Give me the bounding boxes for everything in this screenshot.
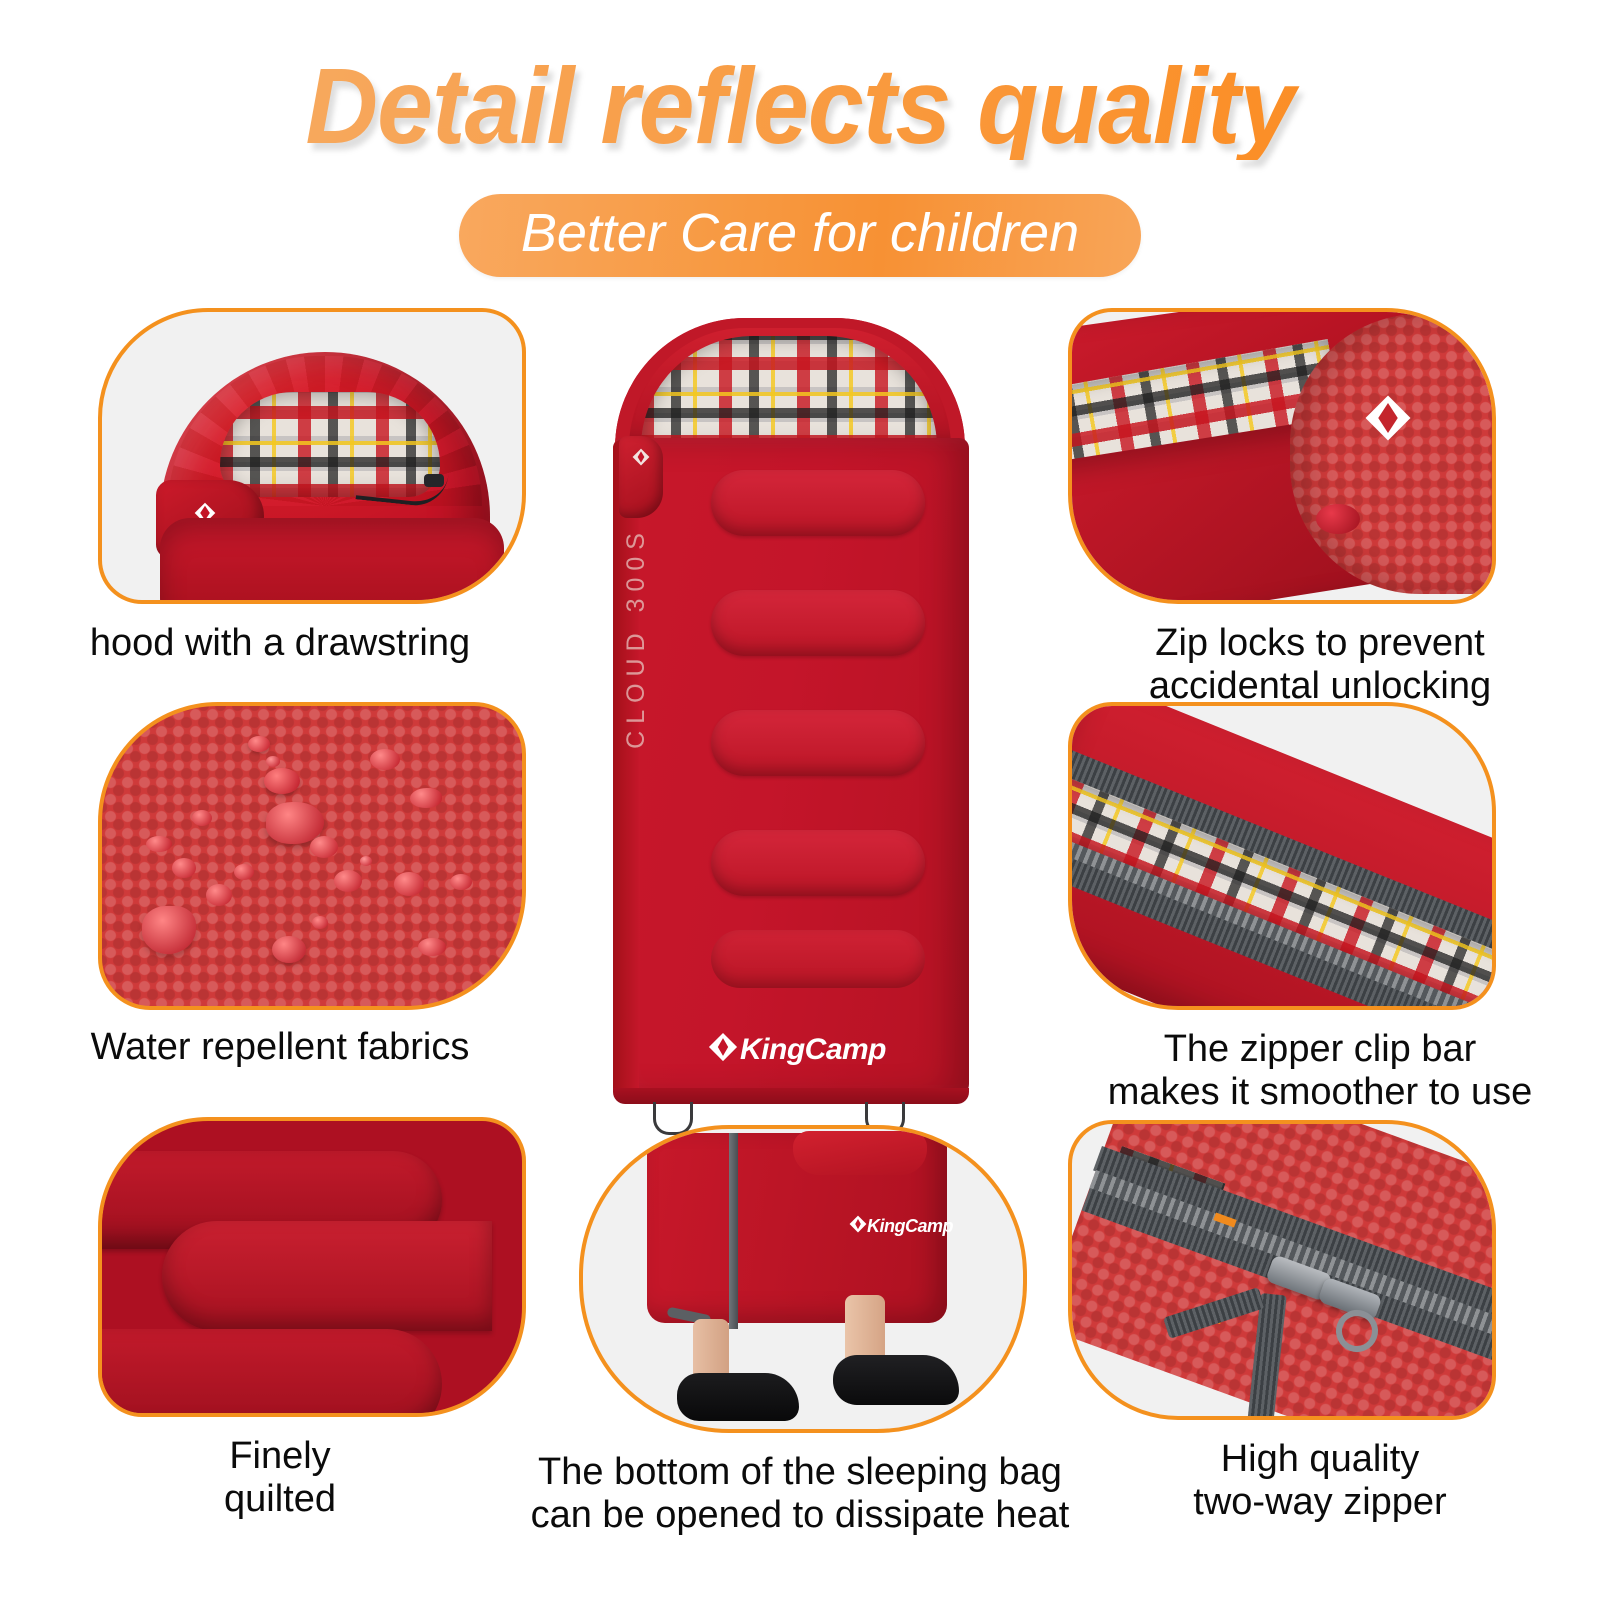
feature-photo-two-way-zipper [1068,1120,1496,1420]
feature-photo-hood-drawstring [98,308,526,604]
sock-right [833,1355,959,1405]
kingcamp-diamond-icon [1364,394,1412,447]
feature-card-finely-quilted: Finely quilted [0,1107,560,1507]
bottom-brand-lockup: KingCamp [849,1215,953,1238]
hood-lower-body [160,518,504,604]
hero-baffle [711,470,925,536]
left-feature-column: hood with a drawstring Water repelle [0,300,560,1507]
header: Detail reflects quality Better Care for … [0,0,1600,290]
page-title: Detail reflects quality [56,52,1544,160]
right-feature-column: Zip locks to prevent accidental unlockin… [1040,300,1600,1510]
sock-left [677,1373,799,1421]
zip-lock-detail [1316,504,1360,534]
feature-caption-zipper-clip-bar: The zipper clip bar makes it smoother to… [1040,1028,1600,1113]
feature-card-bottom-opens: KingCamp The bottom of the sleeping bag … [575,1125,1025,1545]
water-droplet [334,870,362,892]
water-droplet [450,874,472,890]
water-droplet [272,936,306,963]
subtitle-badge: Better Care for children [459,194,1141,277]
feature-card-zip-locks: Zip locks to prevent accidental unlockin… [1040,300,1600,692]
water-droplet [266,756,280,767]
water-droplet [234,864,254,880]
water-droplet [418,938,446,956]
water-droplet [206,884,232,906]
hero-product-image: CLOUD 300S KingCamp [575,318,1025,1128]
water-droplet [248,736,270,752]
quilt-baffle [98,1329,442,1417]
hero-baffle [711,710,925,776]
water-droplet [310,836,338,858]
hero-baffle [711,590,925,656]
kingcamp-diamond-icon [708,1032,738,1067]
bottom-brand-name: KingCamp [867,1216,953,1236]
water-droplet [312,916,328,929]
bottom-zipper-track [729,1133,738,1329]
hero-model-label: CLOUD 300S [622,526,651,749]
hero-baffle [711,830,925,896]
subtitle-container: Better Care for children [0,194,1600,277]
feature-photo-bottom-opens: KingCamp [579,1125,1027,1433]
feature-card-water-repellent: Water repellent fabrics [0,692,560,1107]
feature-card-zipper-clip-bar: The zipper clip bar makes it smoother to… [1040,692,1600,1110]
hero-brand-name: KingCamp [740,1033,886,1066]
feature-caption-hood-drawstring: hood with a drawstring [0,622,560,665]
hero-brand-lockup: KingCamp [687,1032,907,1067]
hero-baffle [711,930,925,988]
drawstring-toggle [424,474,444,487]
water-droplet [146,836,172,852]
water-droplet [360,856,372,866]
hero-hood-rim [615,318,965,448]
water-droplet [394,872,424,896]
feature-card-two-way-zipper: High quality two-way zipper [1040,1110,1600,1510]
water-droplet [172,858,196,878]
feature-caption-bottom-opens: The bottom of the sleeping bag can be op… [475,1451,1125,1536]
kingcamp-diamond-icon [632,448,650,471]
water-droplet [410,788,442,808]
water-droplet [192,810,212,826]
feature-photo-water-repellent [98,702,526,1010]
feature-caption-water-repellent: Water repellent fabrics [0,1026,560,1069]
water-droplet [370,749,400,770]
kingcamp-diamond-icon [849,1215,867,1238]
feature-photo-zipper-clip-bar [1068,702,1496,1010]
feature-card-hood-drawstring: hood with a drawstring [0,300,560,692]
feature-photo-finely-quilted [98,1117,526,1417]
water-droplet [264,768,300,794]
bottom-bag-flap [793,1131,927,1175]
feature-photo-zip-locks [1068,308,1496,604]
quilt-baffle [162,1221,492,1331]
water-droplet [142,906,196,954]
